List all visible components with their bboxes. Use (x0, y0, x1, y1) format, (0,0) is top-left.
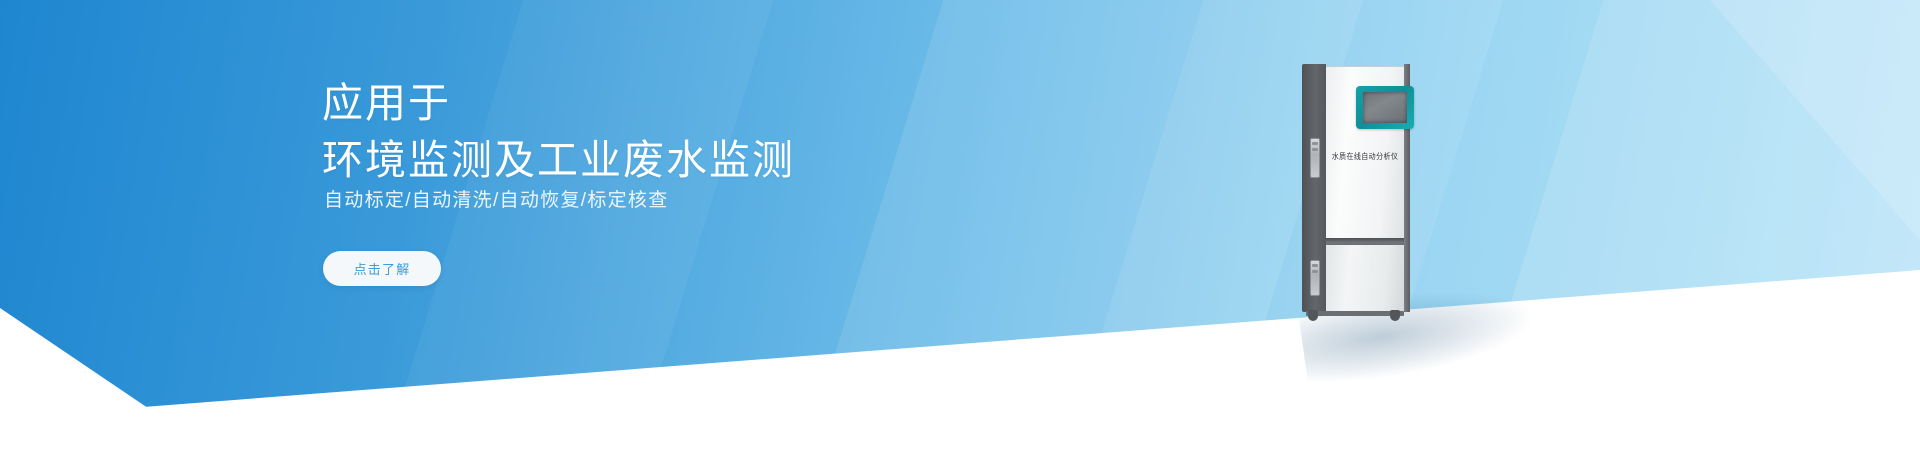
headline-line-1: 应用于 (322, 80, 451, 126)
cabinet-lower-door (1326, 243, 1404, 312)
caster-right (1390, 310, 1400, 321)
corner-wedge-top-right (1590, 0, 1920, 240)
lower-door-handle (1310, 260, 1320, 296)
page-title: 应用于 环境监测及工业废水监测 (322, 75, 795, 188)
headline-line-2: 环境监测及工业废水监测 (322, 132, 795, 189)
banner-text-block: 应用于 环境监测及工业废水监测 自动标定/自动清洗/自动恢复/标定核查 点击了解 (322, 0, 1082, 450)
upper-door-handle (1310, 138, 1320, 178)
banner-subtitle: 自动标定/自动清洗/自动恢复/标定核查 (324, 185, 669, 212)
caster-left (1308, 310, 1318, 321)
learn-more-button[interactable]: 点击了解 (323, 251, 441, 286)
product-image: 水质在线自动分析仪 (1288, 60, 1478, 370)
hero-banner: 应用于 环境监测及工业废水监测 自动标定/自动清洗/自动恢复/标定核查 点击了解… (0, 0, 1920, 450)
display-screen (1363, 92, 1407, 123)
display-screen-bezel (1356, 86, 1414, 129)
product-label: 水质在线自动分析仪 (1326, 152, 1404, 163)
analyzer-cabinet: 水质在线自动分析仪 (1302, 64, 1410, 312)
